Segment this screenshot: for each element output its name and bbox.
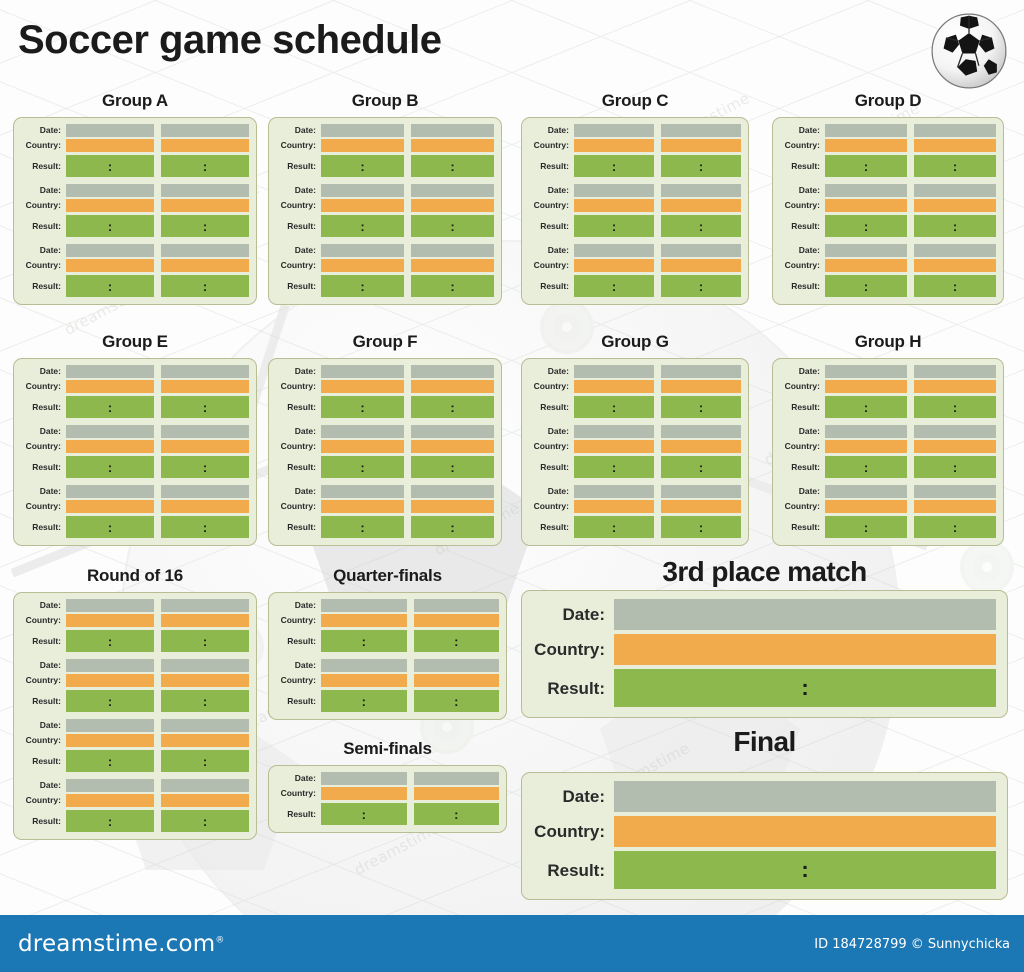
cells-country: [321, 259, 494, 272]
country-input-cell[interactable]: [321, 259, 404, 272]
country-input-cell[interactable]: [66, 614, 154, 627]
row-date: Date:: [526, 244, 741, 257]
row-country: Country:: [18, 734, 249, 747]
country-input-cell[interactable]: [414, 674, 500, 687]
cells-country: [574, 440, 741, 453]
date-input-cell[interactable]: [614, 599, 996, 630]
date-input-cell[interactable]: [321, 599, 407, 612]
result-input-cell[interactable]: :: [66, 275, 154, 297]
label-country: Country:: [18, 440, 66, 453]
result-input-cell[interactable]: :: [66, 690, 154, 712]
row-country: Country:: [777, 139, 996, 152]
cells-result: ::: [574, 396, 741, 418]
date-input-cell[interactable]: [66, 659, 154, 672]
result-input-cell[interactable]: :: [825, 215, 907, 237]
date-input-cell[interactable]: [914, 425, 996, 438]
country-input-cell[interactable]: [661, 199, 741, 212]
country-input-cell[interactable]: [161, 674, 249, 687]
label-result: Result:: [18, 810, 66, 832]
country-input-cell[interactable]: [161, 440, 249, 453]
row-date: Date:: [777, 485, 996, 498]
label-date: Date:: [273, 244, 321, 257]
row-result: Result:::: [273, 215, 494, 237]
country-input-cell[interactable]: [321, 440, 404, 453]
date-input-cell[interactable]: [321, 365, 404, 378]
result-input-cell[interactable]: :: [411, 275, 494, 297]
cells-result: ::: [66, 810, 249, 832]
cells-country: [614, 634, 996, 665]
match-block: Date:Country:Result:::: [18, 485, 249, 538]
date-input-cell[interactable]: [825, 485, 907, 498]
label-date: Date:: [273, 124, 321, 137]
result-input-cell[interactable]: :: [66, 396, 154, 418]
label-date: Date:: [526, 244, 574, 257]
date-input-cell[interactable]: [411, 124, 494, 137]
date-input-cell[interactable]: [321, 485, 404, 498]
result-input-cell[interactable]: :: [661, 215, 741, 237]
row-date: Date:: [273, 425, 494, 438]
date-input-cell[interactable]: [661, 124, 741, 137]
match-block: Date:Country:Result:::: [18, 244, 249, 297]
country-input-cell[interactable]: [66, 139, 154, 152]
label-country: Country:: [777, 500, 825, 513]
label-date: Date:: [526, 124, 574, 137]
result-input-cell[interactable]: :: [321, 690, 407, 712]
country-input-cell[interactable]: [825, 259, 907, 272]
result-input-cell[interactable]: :: [321, 155, 404, 177]
row-date: Date:: [273, 485, 494, 498]
row-country: Country:: [273, 199, 494, 212]
country-input-cell[interactable]: [825, 380, 907, 393]
row-result: Result:::: [18, 750, 249, 772]
country-input-cell[interactable]: [66, 500, 154, 513]
country-input-cell[interactable]: [574, 259, 654, 272]
country-input-cell[interactable]: [914, 440, 996, 453]
label-result: Result:: [273, 396, 321, 418]
result-input-cell[interactable]: :: [161, 155, 249, 177]
label-result: Result:: [18, 690, 66, 712]
country-input-cell[interactable]: [825, 199, 907, 212]
heading-group-b: Group B: [268, 91, 502, 111]
result-input-cell[interactable]: :: [321, 456, 404, 478]
date-input-cell[interactable]: [321, 244, 404, 257]
result-input-cell[interactable]: :: [614, 669, 996, 707]
result-input-cell[interactable]: :: [321, 803, 407, 825]
country-input-cell[interactable]: [661, 380, 741, 393]
country-input-cell[interactable]: [161, 734, 249, 747]
result-input-cell[interactable]: :: [321, 630, 407, 652]
date-input-cell[interactable]: [321, 659, 407, 672]
date-input-cell[interactable]: [66, 365, 154, 378]
cells-country: [574, 139, 741, 152]
result-input-cell[interactable]: :: [66, 750, 154, 772]
result-input-cell[interactable]: :: [661, 396, 741, 418]
date-input-cell[interactable]: [321, 772, 407, 785]
label-country: Country:: [18, 199, 66, 212]
card-round-of-16: Date:Country:Result:::Date:Country:Resul…: [13, 592, 257, 840]
date-input-cell[interactable]: [161, 425, 249, 438]
date-input-cell[interactable]: [411, 184, 494, 197]
row-result: Result:::: [18, 690, 249, 712]
result-input-cell[interactable]: :: [825, 516, 907, 538]
result-input-cell[interactable]: :: [914, 396, 996, 418]
date-input-cell[interactable]: [161, 599, 249, 612]
country-input-cell[interactable]: [66, 794, 154, 807]
country-input-cell[interactable]: [574, 440, 654, 453]
country-input-cell[interactable]: [614, 634, 996, 665]
row-date: Date:: [18, 599, 249, 612]
result-input-cell[interactable]: :: [614, 851, 996, 889]
match-block: Date:Country:Result::: [528, 781, 996, 889]
date-input-cell[interactable]: [411, 485, 494, 498]
date-input-cell[interactable]: [66, 599, 154, 612]
result-input-cell[interactable]: :: [574, 516, 654, 538]
cells-result: ::: [321, 690, 499, 712]
date-input-cell[interactable]: [161, 659, 249, 672]
date-input-cell[interactable]: [411, 365, 494, 378]
cells-date: [66, 244, 249, 257]
date-input-cell[interactable]: [825, 365, 907, 378]
match-block: Date:Country:Result:::: [273, 425, 494, 478]
country-input-cell[interactable]: [825, 440, 907, 453]
date-input-cell[interactable]: [825, 124, 907, 137]
result-input-cell[interactable]: :: [161, 215, 249, 237]
date-input-cell[interactable]: [914, 124, 996, 137]
result-input-cell[interactable]: :: [661, 516, 741, 538]
cells-country: [321, 139, 494, 152]
row-country: Country:: [777, 199, 996, 212]
result-input-cell[interactable]: :: [914, 155, 996, 177]
row-country: Country:: [777, 380, 996, 393]
page-title: Soccer game schedule: [18, 20, 442, 60]
result-input-cell[interactable]: :: [411, 155, 494, 177]
country-input-cell[interactable]: [161, 380, 249, 393]
result-input-cell[interactable]: :: [661, 456, 741, 478]
row-country: Country:: [526, 500, 741, 513]
date-input-cell[interactable]: [661, 244, 741, 257]
row-result: Result:::: [18, 456, 249, 478]
result-input-cell[interactable]: :: [825, 396, 907, 418]
label-result: Result:: [526, 215, 574, 237]
cells-result: ::: [574, 275, 741, 297]
date-input-cell[interactable]: [914, 184, 996, 197]
date-input-cell[interactable]: [161, 124, 249, 137]
label-date: Date:: [777, 244, 825, 257]
date-input-cell[interactable]: [574, 244, 654, 257]
row-date: Date:: [273, 184, 494, 197]
cells-result: ::: [66, 456, 249, 478]
country-input-cell[interactable]: [321, 674, 407, 687]
dreamstime-logo[interactable]: dreamstime.com®: [18, 931, 225, 957]
match-block: Date:Country:Result:::: [777, 365, 996, 418]
row-date: Date:: [777, 365, 996, 378]
result-input-cell[interactable]: :: [321, 215, 404, 237]
country-input-cell[interactable]: [825, 500, 907, 513]
label-date: Date:: [273, 365, 321, 378]
cells-date: [66, 599, 249, 612]
date-input-cell[interactable]: [614, 781, 996, 812]
date-input-cell[interactable]: [321, 124, 404, 137]
result-input-cell[interactable]: :: [411, 516, 494, 538]
row-country: Country:: [526, 259, 741, 272]
row-country: Country:: [273, 139, 494, 152]
card-group-b: Date:Country:Result:::Date:Country:Resul…: [268, 117, 502, 305]
date-input-cell[interactable]: [66, 719, 154, 732]
country-input-cell[interactable]: [321, 614, 407, 627]
date-input-cell[interactable]: [574, 425, 654, 438]
result-input-cell[interactable]: :: [161, 456, 249, 478]
label-result: Result:: [273, 155, 321, 177]
result-input-cell[interactable]: :: [574, 275, 654, 297]
cells-country: [825, 500, 996, 513]
date-input-cell[interactable]: [66, 425, 154, 438]
country-input-cell[interactable]: [914, 199, 996, 212]
label-result: Result:: [273, 630, 321, 652]
cells-date: [614, 599, 996, 630]
result-input-cell[interactable]: :: [411, 215, 494, 237]
country-input-cell[interactable]: [661, 259, 741, 272]
result-input-cell[interactable]: :: [66, 516, 154, 538]
country-input-cell[interactable]: [574, 199, 654, 212]
row-result: Result::: [528, 851, 996, 889]
match-block: Date:Country:Result:::: [18, 365, 249, 418]
label-result: Result:: [777, 396, 825, 418]
country-input-cell[interactable]: [66, 199, 154, 212]
date-input-cell[interactable]: [914, 365, 996, 378]
date-input-cell[interactable]: [574, 485, 654, 498]
cells-country: [574, 500, 741, 513]
cells-date: [614, 781, 996, 812]
result-input-cell[interactable]: :: [161, 630, 249, 652]
date-input-cell[interactable]: [661, 425, 741, 438]
result-input-cell[interactable]: :: [574, 456, 654, 478]
label-result: Result:: [528, 851, 614, 889]
match-block: Date:Country:Result::: [528, 599, 996, 707]
heading-quarter-finals: Quarter-finals: [268, 566, 507, 586]
country-input-cell[interactable]: [661, 500, 741, 513]
label-date: Date:: [777, 485, 825, 498]
result-input-cell[interactable]: :: [914, 456, 996, 478]
result-input-cell[interactable]: :: [825, 155, 907, 177]
label-country: Country:: [528, 816, 614, 847]
date-input-cell[interactable]: [66, 124, 154, 137]
result-input-cell[interactable]: :: [66, 215, 154, 237]
date-input-cell[interactable]: [825, 184, 907, 197]
result-input-cell[interactable]: :: [574, 215, 654, 237]
result-input-cell[interactable]: :: [161, 275, 249, 297]
row-result: Result:::: [526, 155, 741, 177]
date-input-cell[interactable]: [66, 485, 154, 498]
country-input-cell[interactable]: [574, 500, 654, 513]
country-input-cell[interactable]: [614, 816, 996, 847]
row-country: Country:: [273, 380, 494, 393]
row-result: Result:::: [273, 456, 494, 478]
country-input-cell[interactable]: [411, 500, 494, 513]
country-input-cell[interactable]: [661, 440, 741, 453]
country-input-cell[interactable]: [914, 259, 996, 272]
country-input-cell[interactable]: [321, 139, 404, 152]
country-input-cell[interactable]: [161, 139, 249, 152]
country-input-cell[interactable]: [66, 674, 154, 687]
result-input-cell[interactable]: :: [574, 396, 654, 418]
cells-date: [825, 365, 996, 378]
date-input-cell[interactable]: [414, 772, 500, 785]
country-input-cell[interactable]: [321, 787, 407, 800]
date-input-cell[interactable]: [661, 184, 741, 197]
result-input-cell[interactable]: :: [66, 155, 154, 177]
result-input-cell[interactable]: :: [66, 810, 154, 832]
row-result: Result:::: [777, 456, 996, 478]
cells-result: ::: [66, 215, 249, 237]
result-input-cell[interactable]: :: [321, 516, 404, 538]
match-block: Date:Country:Result:::: [18, 124, 249, 177]
country-input-cell[interactable]: [66, 440, 154, 453]
result-input-cell[interactable]: :: [825, 456, 907, 478]
date-input-cell[interactable]: [825, 244, 907, 257]
label-country: Country:: [18, 380, 66, 393]
result-input-cell[interactable]: :: [914, 275, 996, 297]
date-input-cell[interactable]: [574, 365, 654, 378]
country-input-cell[interactable]: [574, 380, 654, 393]
result-input-cell[interactable]: :: [161, 690, 249, 712]
cells-result: ::: [825, 155, 996, 177]
date-input-cell[interactable]: [161, 365, 249, 378]
match-block: Date:Country:Result:::: [18, 599, 249, 652]
country-input-cell[interactable]: [574, 139, 654, 152]
country-input-cell[interactable]: [411, 199, 494, 212]
date-input-cell[interactable]: [914, 244, 996, 257]
label-result: Result:: [777, 215, 825, 237]
country-input-cell[interactable]: [411, 259, 494, 272]
label-country: Country:: [18, 614, 66, 627]
label-country: Country:: [526, 259, 574, 272]
country-input-cell[interactable]: [914, 380, 996, 393]
country-input-cell[interactable]: [411, 139, 494, 152]
date-input-cell[interactable]: [161, 184, 249, 197]
date-input-cell[interactable]: [411, 425, 494, 438]
cells-country: [574, 380, 741, 393]
country-input-cell[interactable]: [321, 199, 404, 212]
cells-result: ::: [321, 803, 499, 825]
country-input-cell[interactable]: [411, 380, 494, 393]
cells-result: ::: [321, 215, 494, 237]
match-block: Date:Country:Result:::: [777, 425, 996, 478]
cells-result: ::: [574, 456, 741, 478]
date-input-cell[interactable]: [914, 485, 996, 498]
country-input-cell[interactable]: [914, 139, 996, 152]
date-input-cell[interactable]: [574, 184, 654, 197]
cells-result: ::: [66, 630, 249, 652]
row-country: Country:: [18, 440, 249, 453]
result-input-cell[interactable]: :: [411, 396, 494, 418]
result-input-cell[interactable]: :: [661, 275, 741, 297]
result-input-cell[interactable]: :: [574, 155, 654, 177]
date-input-cell[interactable]: [661, 365, 741, 378]
heading-group-d: Group D: [772, 91, 1004, 111]
date-input-cell[interactable]: [161, 719, 249, 732]
row-result: Result:::: [18, 396, 249, 418]
date-input-cell[interactable]: [161, 244, 249, 257]
date-input-cell[interactable]: [161, 485, 249, 498]
country-input-cell[interactable]: [825, 139, 907, 152]
date-input-cell[interactable]: [661, 485, 741, 498]
country-input-cell[interactable]: [914, 500, 996, 513]
date-input-cell[interactable]: [414, 659, 500, 672]
date-input-cell[interactable]: [321, 425, 404, 438]
card-3rd-place-match: Date:Country:Result::: [521, 590, 1008, 718]
result-input-cell[interactable]: :: [414, 803, 500, 825]
label-country: Country:: [273, 139, 321, 152]
row-country: Country:: [777, 259, 996, 272]
label-result: Result:: [273, 516, 321, 538]
date-input-cell[interactable]: [574, 124, 654, 137]
country-input-cell[interactable]: [66, 380, 154, 393]
date-input-cell[interactable]: [825, 425, 907, 438]
date-input-cell[interactable]: [66, 184, 154, 197]
label-country: Country:: [273, 199, 321, 212]
result-input-cell[interactable]: :: [661, 155, 741, 177]
country-input-cell[interactable]: [411, 440, 494, 453]
country-input-cell[interactable]: [66, 734, 154, 747]
result-input-cell[interactable]: :: [825, 275, 907, 297]
label-result: Result:: [526, 275, 574, 297]
country-input-cell[interactable]: [414, 787, 500, 800]
result-input-cell[interactable]: :: [161, 516, 249, 538]
result-input-cell[interactable]: :: [411, 456, 494, 478]
label-country: Country:: [273, 614, 321, 627]
country-input-cell[interactable]: [66, 259, 154, 272]
cells-result: :: [614, 669, 996, 707]
country-input-cell[interactable]: [661, 139, 741, 152]
card-quarter-finals: Date:Country:Result:::Date:Country:Resul…: [268, 592, 507, 720]
result-input-cell[interactable]: :: [321, 396, 404, 418]
result-input-cell[interactable]: :: [66, 630, 154, 652]
cells-result: ::: [825, 275, 996, 297]
date-input-cell[interactable]: [161, 779, 249, 792]
row-result: Result:::: [273, 155, 494, 177]
result-input-cell[interactable]: :: [161, 750, 249, 772]
heading-round-of-16: Round of 16: [13, 566, 257, 586]
result-input-cell[interactable]: :: [414, 690, 500, 712]
result-input-cell[interactable]: :: [414, 630, 500, 652]
date-input-cell[interactable]: [414, 599, 500, 612]
date-input-cell[interactable]: [411, 244, 494, 257]
country-input-cell[interactable]: [161, 259, 249, 272]
result-input-cell[interactable]: :: [914, 516, 996, 538]
country-input-cell[interactable]: [161, 614, 249, 627]
country-input-cell[interactable]: [321, 380, 404, 393]
date-input-cell[interactable]: [66, 244, 154, 257]
label-date: Date:: [528, 599, 614, 630]
label-country: Country:: [526, 199, 574, 212]
result-input-cell[interactable]: :: [161, 396, 249, 418]
country-input-cell[interactable]: [161, 794, 249, 807]
result-input-cell[interactable]: :: [161, 810, 249, 832]
country-input-cell[interactable]: [161, 500, 249, 513]
match-block: Date:Country:Result:::: [273, 599, 499, 652]
country-input-cell[interactable]: [414, 614, 500, 627]
date-input-cell[interactable]: [321, 184, 404, 197]
country-input-cell[interactable]: [161, 199, 249, 212]
result-input-cell[interactable]: :: [66, 456, 154, 478]
cells-date: [66, 184, 249, 197]
label-date: Date:: [526, 184, 574, 197]
cells-result: ::: [574, 155, 741, 177]
result-input-cell[interactable]: :: [321, 275, 404, 297]
country-input-cell[interactable]: [321, 500, 404, 513]
result-input-cell[interactable]: :: [914, 215, 996, 237]
date-input-cell[interactable]: [66, 779, 154, 792]
